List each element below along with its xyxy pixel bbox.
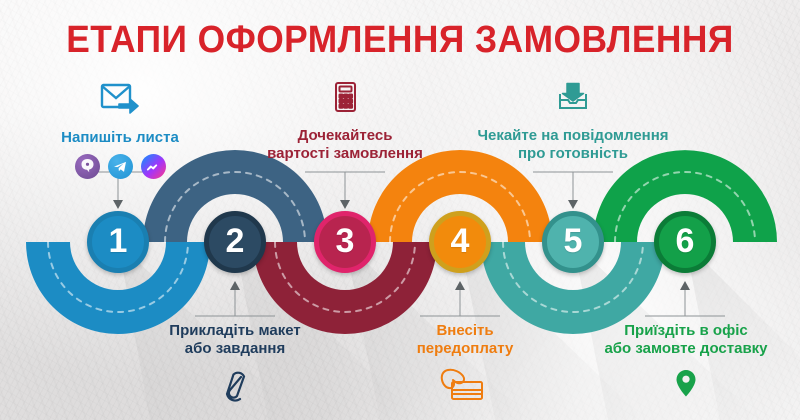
step-number-6: 6: [676, 224, 695, 258]
step-label-1-text: Напишіть листа: [20, 129, 220, 147]
infographic-root: ЕТАПИ ОФОРМЛЕННЯ ЗАМОВЛЕННЯ: [0, 0, 800, 420]
step-label-5-text: Чекайте на повідомлення про готовність: [443, 127, 703, 163]
page-title: ЕТАПИ ОФОРМЛЕННЯ ЗАМОВЛЕННЯ: [28, 18, 772, 62]
map-pin-icon: [580, 368, 792, 405]
step-label-3: Дочекайтесь вартості замовлення: [245, 80, 445, 163]
step-label-2: Прикладіть макет або завдання: [135, 322, 335, 411]
step-node-5[interactable]: 5: [542, 211, 604, 273]
inbox-download-icon: [443, 80, 703, 119]
step-label-4: Внесіть передоплату: [385, 322, 545, 407]
viber-icon[interactable]: [75, 154, 100, 179]
telegram-icon[interactable]: [108, 154, 133, 179]
messenger-icon[interactable]: [141, 154, 166, 179]
step-node-2[interactable]: 2: [204, 211, 266, 273]
step-label-6: Приїздіть в офіс або замовте доставку: [580, 322, 792, 405]
envelope-send-icon: [20, 80, 220, 121]
step-label-6-text: Приїздіть в офіс або замовте доставку: [580, 322, 792, 358]
step-label-2-text: Прикладіть макет або завдання: [135, 322, 335, 358]
step-node-6[interactable]: 6: [654, 211, 716, 273]
hand-card-icon: [385, 366, 545, 407]
step-label-1: Напишіть листа: [20, 80, 220, 179]
step-label-5: Чекайте на повідомлення про готовність: [443, 80, 703, 163]
paperclip-icon: [135, 368, 335, 411]
step-label-3-text: Дочекайтесь вартості замовлення: [245, 127, 445, 163]
step-number-3: 3: [336, 224, 355, 258]
step-number-2: 2: [226, 224, 245, 258]
step-number-4: 4: [451, 224, 470, 258]
calculator-icon: [245, 80, 445, 119]
step-node-3[interactable]: 3: [314, 211, 376, 273]
step-number-5: 5: [564, 224, 583, 258]
social-icons-row: [20, 154, 220, 179]
step-number-1: 1: [109, 224, 128, 258]
step-label-4-text: Внесіть передоплату: [385, 322, 545, 358]
step-node-4[interactable]: 4: [429, 211, 491, 273]
step-node-1[interactable]: 1: [87, 211, 149, 273]
